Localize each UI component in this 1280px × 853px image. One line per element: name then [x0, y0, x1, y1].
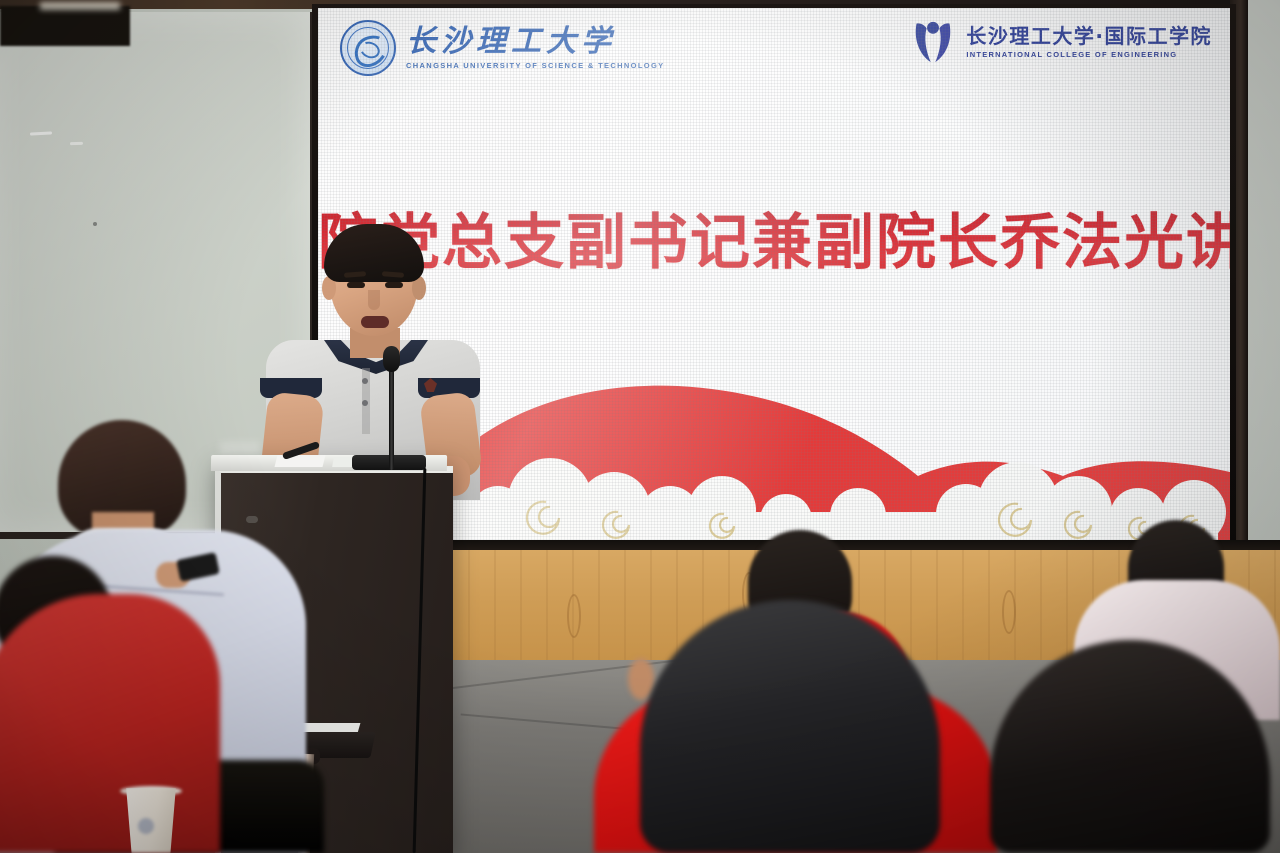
- college-logo: 长沙理工大学·国际工学院 INTERNATIONAL COLLEGE OF EN…: [910, 20, 1212, 64]
- ceiling-shadow: [0, 6, 130, 46]
- whiteboard-scuff: [220, 442, 260, 456]
- wood-knot: [1002, 590, 1016, 634]
- whiteboard-dot: [93, 222, 97, 226]
- right-wall: [1246, 0, 1280, 620]
- paper-cup-logo-icon: [138, 818, 154, 834]
- wood-knot: [567, 594, 581, 638]
- whiteboard-mark: [70, 142, 83, 145]
- college-emblem-icon: [910, 20, 956, 64]
- university-logo: 长沙理工大学 CHANGSHA UNIVERSITY OF SCIENCE & …: [340, 20, 664, 76]
- microphone-icon: [383, 346, 400, 372]
- conference-photo-scene: 长沙理工大学 CHANGSHA UNIVERSITY OF SCIENCE & …: [0, 0, 1280, 853]
- university-seal-icon: [340, 20, 396, 76]
- college-name-en: INTERNATIONAL COLLEGE OF ENGINEERING: [966, 51, 1212, 59]
- university-name-cn: 长沙理工大学: [406, 27, 664, 57]
- audience-member-body: [0, 594, 220, 853]
- ceiling-light-glare: [40, 2, 120, 10]
- podium-latch: [246, 516, 258, 523]
- speaker-person: [258, 228, 494, 478]
- whiteboard-mark: [30, 131, 52, 135]
- college-name-cn: 长沙理工大学·国际工学院: [966, 26, 1212, 46]
- speaker-hair: [324, 224, 424, 282]
- university-name-en: CHANGSHA UNIVERSITY OF SCIENCE & TECHNOL…: [406, 62, 664, 70]
